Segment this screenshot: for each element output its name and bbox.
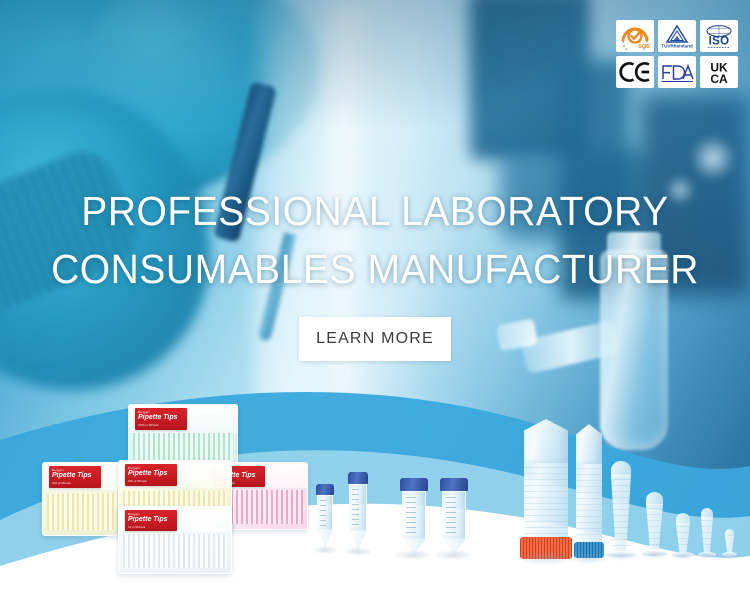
iso-certification-icon: ISO [700, 20, 738, 52]
certification-badges: SGS TÜVRheinland ISO [616, 20, 738, 88]
headline-line-1: PROFESSIONAL LABORATORY [19, 182, 732, 240]
sgs-certification-icon: SGS [616, 20, 654, 52]
fda-certification-icon [658, 56, 696, 88]
svg-text:ISO: ISO [709, 36, 730, 48]
bokeh-light-large [690, 135, 736, 181]
hero-banner: SGS TÜVRheinland ISO [0, 0, 750, 600]
svg-text:SGS: SGS [638, 44, 650, 50]
ukca-marking-icon: UK CA [700, 56, 738, 88]
svg-text:CA: CA [710, 72, 728, 86]
tuv-rheinland-certification-icon: TÜVRheinland [658, 20, 696, 52]
learn-more-button[interactable]: LEARN MORE [299, 317, 451, 361]
ce-marking-icon [616, 56, 654, 88]
svg-text:TÜVRheinland: TÜVRheinland [661, 43, 693, 49]
wave-decoration [0, 370, 750, 600]
headline-line-2: CONSUMABLES MANUFACTURER [19, 240, 732, 298]
hero-headline: PROFESSIONAL LABORATORY CONSUMABLES MANU… [19, 182, 732, 298]
